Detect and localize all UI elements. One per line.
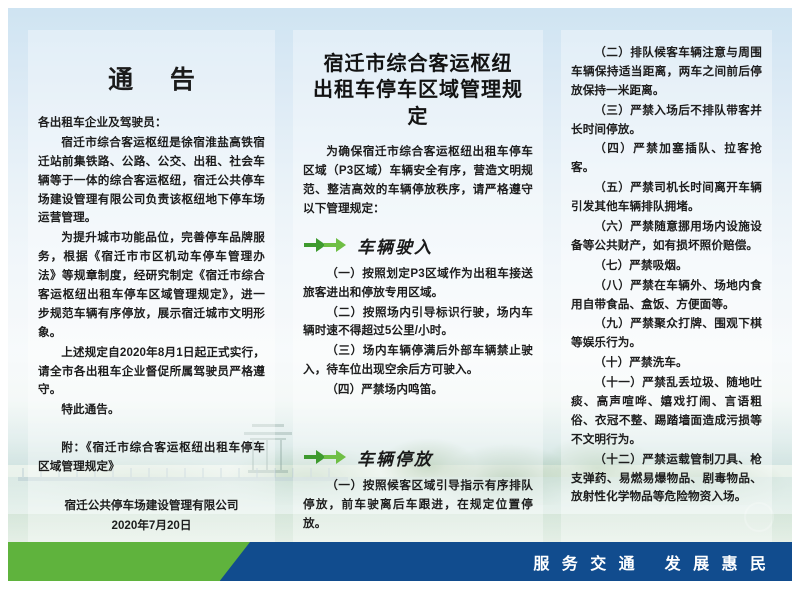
parking-item-6: （六）严禁随意挪用场内设施设备等公共财产，如有损坏照价赔偿。 <box>571 218 762 256</box>
regulations-title: 宿迁市综合客运枢纽 出租车停车区域管理规定 <box>303 34 533 143</box>
regulations-title-line1: 宿迁市综合客运枢纽 <box>303 50 533 76</box>
entry-item-3: （三）场内车辆停满后外部车辆禁止驶入，待车位出现空余后方可驶入。 <box>303 342 533 380</box>
parking-item-8: （八）严禁在车辆外、场地内食用自带食品、盒饭、方便面等。 <box>571 277 762 315</box>
columns-container: 通 告 各出租车企业及驾驶员： 宿迁市综合客运枢纽是徐宿淮盐高铁宿迁站前集铁路、… <box>8 8 792 542</box>
parking-item-10: （十）严禁洗车。 <box>571 354 762 373</box>
double-arrow-icon <box>303 235 347 255</box>
section-header-vehicle-entry: 车辆驶入 <box>303 233 533 258</box>
parking-item-1: （一）按照候客区域引导指示有序排队停放，前车驶离后车跟进，在规定位置停放。 <box>303 477 533 534</box>
footer-slogan: 服 务 交 通 发 展 惠 民 <box>533 542 770 581</box>
notice-title: 通 告 <box>38 34 265 114</box>
notice-attachment: 附：《宿迁市综合客运枢纽出租车停车区域管理规定》 <box>38 439 265 477</box>
notice-date: 2020年7月20日 <box>38 516 265 536</box>
footer-band: 服 务 交 通 发 展 惠 民 <box>8 542 792 581</box>
notice-paragraph-2: 为提升城市功能品位，完善停车品牌服务，根据《宿迁市市区机动车停车管理办法》等规章… <box>38 229 265 342</box>
parking-item-11: （十一）严禁乱丢垃圾、随地吐痰、高声喧哗、嬉戏打闹、言语粗俗、衣冠不整、踢踏墙面… <box>571 374 762 450</box>
entry-item-1: （一）按照划定P3区域作为出租车接送旅客进出和停放专用区域。 <box>303 265 533 303</box>
parking-item-12: （十二）严禁运载管制刀具、枪支弹药、易燃易爆物品、剧毒物品、放射性化学物品等危险… <box>571 451 762 508</box>
column-regulations-right: （二）排队候客车辆注意与周围车辆保持适当距离，两车之间前后停放保持一米距离。 （… <box>561 30 772 542</box>
parking-item-9: （九）严禁聚众打牌、围观下棋等娱乐行为。 <box>571 315 762 353</box>
regulations-preamble: 为确保宿迁市综合客运枢纽出租车停车区域（P3区域）车辆安全有序，营造文明规范、整… <box>303 143 533 219</box>
column-notice: 通 告 各出租车企业及驾驶员： 宿迁市综合客运枢纽是徐宿淮盐高铁宿迁站前集铁路、… <box>28 30 275 542</box>
parking-item-3: （三）严禁入场后不排队带客并长时间停放。 <box>571 102 762 140</box>
section-header-vehicle-parking: 车辆停放 <box>303 445 533 470</box>
parking-item-4: （四）严禁加塞插队、拉客抢客。 <box>571 140 762 178</box>
notice-issuer: 宿迁公共停车场建设管理有限公司 <box>38 496 265 516</box>
column-regulations-left: 宿迁市综合客运枢纽 出租车停车区域管理规定 为确保宿迁市综合客运枢纽出租车停车区… <box>293 30 543 542</box>
notice-paragraph-3: 上述规定自2020年8月1日起正式实行，请全市各出租车企业督促所属驾驶员严格遵守… <box>38 344 265 401</box>
double-arrow-icon <box>303 447 347 467</box>
parking-item-2: （二）排队候客车辆注意与周围车辆保持适当距离，两车之间前后停放保持一米距离。 <box>571 44 762 101</box>
notice-salutation: 各出租车企业及驾驶员： <box>38 114 265 133</box>
regulations-title-line2: 出租车停车区域管理规定 <box>303 76 533 129</box>
poster-root: 通 告 各出租车企业及驾驶员： 宿迁市综合客运枢纽是徐宿淮盐高铁宿迁站前集铁路、… <box>0 0 800 589</box>
parking-item-7: （七）严禁吸烟。 <box>571 257 762 276</box>
parking-item-5: （五）严禁司机长时间离开车辆引发其他车辆排队拥堵。 <box>571 179 762 217</box>
notice-paragraph-4: 特此通告。 <box>38 401 265 420</box>
section-label-vehicle-parking: 车辆停放 <box>357 445 433 470</box>
entry-item-2: （二）按照场内引导标识行驶，场内车辆时速不得超过5公里/小时。 <box>303 304 533 342</box>
notice-paragraph-1: 宿迁市综合客运枢纽是徐宿淮盐高铁宿迁站前集铁路、公路、公交、出租、社会车辆等于一… <box>38 134 265 228</box>
footer-slogan-left: 服 务 交 通 <box>533 550 638 574</box>
section-label-vehicle-entry: 车辆驶入 <box>357 233 433 258</box>
entry-item-4: （四）严禁场内鸣笛。 <box>303 381 533 400</box>
footer-slogan-right: 发 展 惠 民 <box>665 550 770 574</box>
